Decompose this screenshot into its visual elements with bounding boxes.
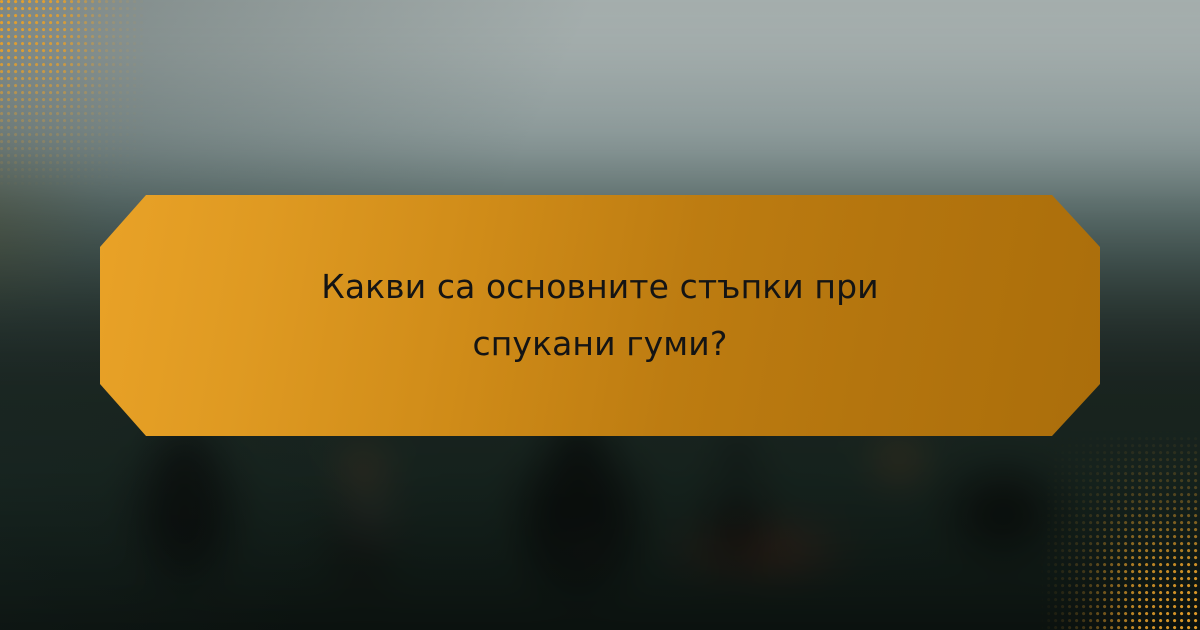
dot-grid-bottom-right-decoration xyxy=(1040,430,1200,630)
title-banner: Какви са основните стъпки при спукани гу… xyxy=(100,195,1100,436)
page-title: Какви са основните стъпки при спукани гу… xyxy=(245,259,955,373)
dot-grid-top-left-decoration xyxy=(0,0,148,190)
share-card: Какви са основните стъпки при спукани гу… xyxy=(0,0,1200,630)
